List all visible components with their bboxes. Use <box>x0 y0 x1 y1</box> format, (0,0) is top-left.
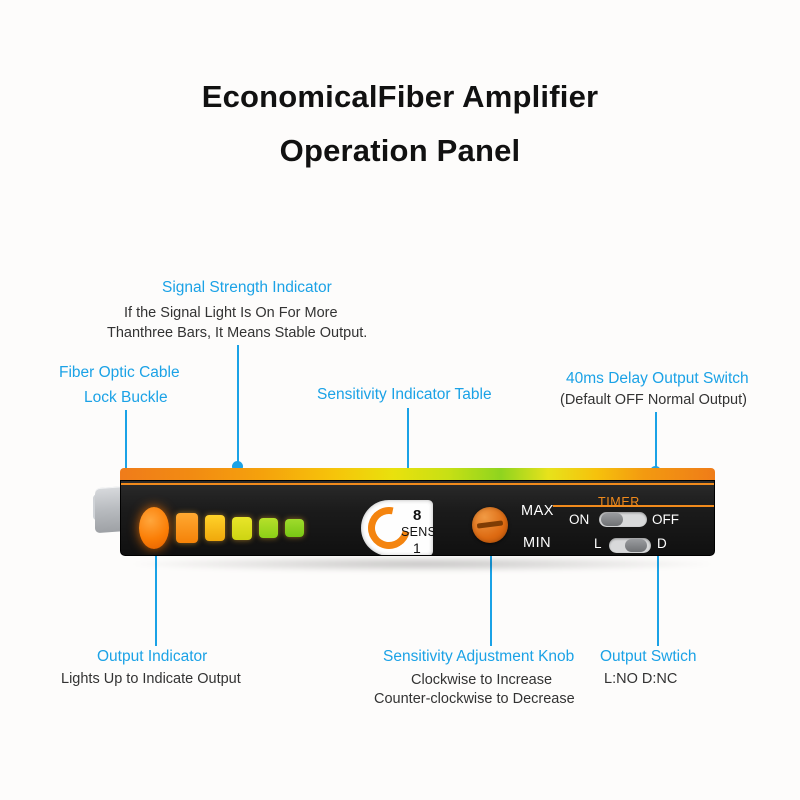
timer-on-label: ON <box>569 512 589 527</box>
callout-delay-switch-title: 40ms Delay Output Switch <box>566 370 749 388</box>
callout-signal-strength-line1: If the Signal Light Is On For More <box>124 305 338 321</box>
callout-fiber-lock-line1: Fiber Optic Cable <box>59 364 180 382</box>
knob-max-label: MAX <box>521 503 554 519</box>
timer-switch-knob[interactable] <box>601 513 623 526</box>
orange-divider-top <box>121 483 715 485</box>
signal-bar-4 <box>259 518 278 538</box>
device-body: 8 SENS 1 MAX MIN TIMER ON OFF L D <box>120 480 715 556</box>
timer-switch-label: TIMER <box>598 495 640 509</box>
signal-strength-indicator <box>139 507 304 549</box>
callout-output-switch-sub: L:NO D:NC <box>604 671 677 687</box>
gauge-label: SENS <box>401 525 436 539</box>
leader-sensitivity-table <box>407 408 409 472</box>
callout-output-switch-title: Output Swtich <box>600 648 697 666</box>
title-line-2: Operation Panel <box>0 124 800 178</box>
sensitivity-indicator-table: 8 SENS 1 <box>361 500 433 556</box>
callout-signal-strength-title: Signal Strength Indicator <box>162 279 332 297</box>
signal-bar-1 <box>176 513 198 543</box>
leader-delay-switch <box>655 412 657 470</box>
callout-sensitivity-knob-line2: Counter-clockwise to Decrease <box>374 691 575 707</box>
page-title: EconomicalFiber Amplifier Operation Pane… <box>0 70 800 179</box>
signal-bar-5 <box>285 519 304 537</box>
callout-output-indicator-title: Output Indicator <box>97 648 207 666</box>
leader-signal-strength <box>237 345 239 465</box>
knob-min-label: MIN <box>523 535 551 551</box>
signal-bar-2 <box>205 515 225 541</box>
title-line-1: EconomicalFiber Amplifier <box>0 70 800 124</box>
callout-delay-switch-sub: (Default OFF Normal Output) <box>560 392 747 408</box>
output-switch-knob[interactable] <box>625 539 647 552</box>
knob-slot-icon <box>477 520 503 528</box>
callout-signal-strength-line2: Thanthree Bars, It Means Stable Output. <box>107 325 367 341</box>
output-switch-d-label: D <box>657 536 667 551</box>
callout-sensitivity-knob-line1: Clockwise to Increase <box>411 672 552 688</box>
sensitivity-adjustment-knob[interactable] <box>472 507 508 543</box>
gauge-min-value: 1 <box>413 540 421 556</box>
output-indicator-led <box>139 507 169 549</box>
callout-sensitivity-knob-title: Sensitivity Adjustment Knob <box>383 648 574 666</box>
fiber-amplifier-device: 8 SENS 1 MAX MIN TIMER ON OFF L D <box>120 468 715 558</box>
device-shadow <box>132 556 712 572</box>
gauge-max-value: 8 <box>413 507 421 524</box>
output-switch-l-label: L <box>594 536 602 551</box>
timer-off-label: OFF <box>652 512 679 527</box>
callout-sensitivity-table-title: Sensitivity Indicator Table <box>317 386 492 404</box>
callout-fiber-lock-line2: Lock Buckle <box>84 389 168 407</box>
callout-output-indicator-sub: Lights Up to Indicate Output <box>61 671 241 687</box>
signal-bar-3 <box>232 517 252 540</box>
